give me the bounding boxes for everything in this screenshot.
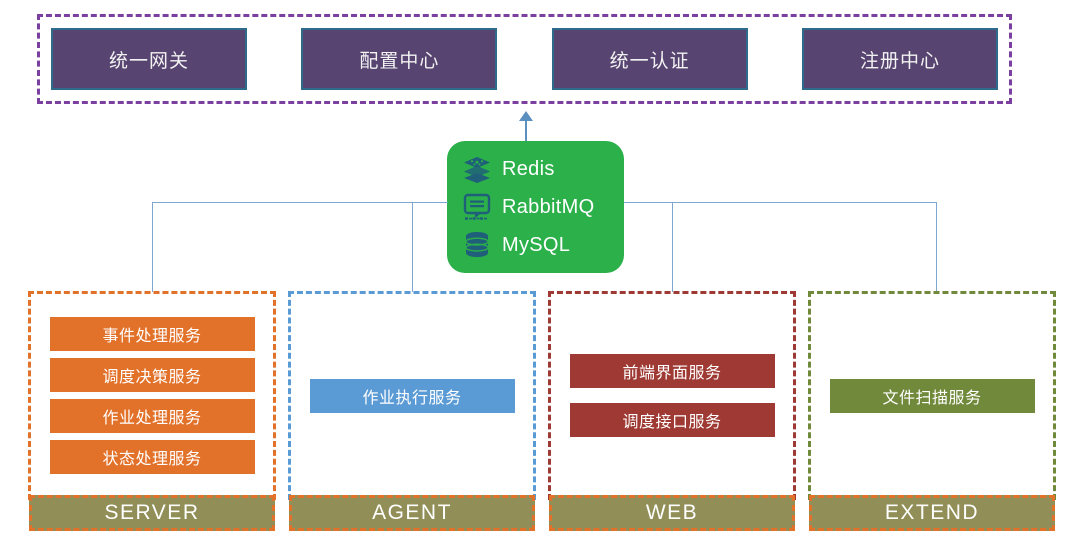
rabbitmq-message-icon: [461, 191, 493, 223]
module-web-services: 前端界面服务 调度接口服务: [551, 294, 793, 497]
service-label: 前端界面服务: [622, 359, 721, 383]
module-agent-services: 作业执行服务: [291, 294, 533, 497]
service-label: 作业执行服务: [362, 384, 461, 408]
module-agent[interactable]: 作业执行服务: [288, 291, 536, 500]
platform-box-registry-label: 注册中心: [860, 46, 940, 73]
module-footer-server: SERVER: [29, 495, 275, 531]
middleware-item-mysql-label: MySQL: [502, 234, 570, 257]
mysql-database-icon: [461, 229, 493, 261]
module-extend[interactable]: 文件扫描服务: [808, 291, 1056, 500]
platform-layer-boxes: 统一网关 配置中心 统一认证 注册中心: [37, 14, 1012, 104]
module-server[interactable]: 事件处理服务 调度决策服务 作业处理服务 状态处理服务: [28, 291, 276, 500]
module-web[interactable]: 前端界面服务 调度接口服务: [548, 291, 796, 500]
platform-box-gateway-label: 统一网关: [109, 46, 189, 73]
platform-box-gateway[interactable]: 统一网关: [51, 28, 247, 90]
middleware-item-mysql: MySQL: [461, 226, 624, 264]
platform-box-registry[interactable]: 注册中心: [802, 28, 998, 90]
middleware-item-rabbitmq-label: RabbitMQ: [502, 196, 594, 219]
platform-box-config-label: 配置中心: [359, 46, 439, 73]
service-box[interactable]: 事件处理服务: [50, 317, 255, 351]
uplink-arrow-stem: [525, 118, 527, 142]
bus-drop-server: [152, 202, 153, 292]
middleware-item-redis-label: Redis: [502, 158, 555, 181]
module-footer-web-label: WEB: [646, 501, 698, 525]
service-label: 文件扫描服务: [882, 384, 981, 408]
redis-layers-icon: [461, 153, 493, 185]
architecture-diagram: 统一网关 配置中心 统一认证 注册中心: [0, 0, 1080, 545]
module-extend-services: 文件扫描服务: [811, 294, 1053, 497]
service-box[interactable]: 作业执行服务: [310, 379, 515, 413]
middleware-item-rabbitmq: RabbitMQ: [461, 188, 624, 226]
service-box[interactable]: 状态处理服务: [50, 440, 255, 474]
module-footer-web: WEB: [549, 495, 795, 531]
bus-drop-extend: [936, 202, 937, 292]
service-label: 调度接口服务: [622, 408, 721, 432]
service-label: 状态处理服务: [102, 445, 201, 469]
service-label: 调度决策服务: [102, 363, 201, 387]
module-server-services: 事件处理服务 调度决策服务 作业处理服务 状态处理服务: [31, 294, 273, 497]
service-box[interactable]: 作业处理服务: [50, 399, 255, 433]
module-footer-extend-label: EXTEND: [885, 501, 979, 525]
middleware-item-redis: Redis: [461, 150, 624, 188]
service-label: 事件处理服务: [102, 322, 201, 346]
platform-box-auth[interactable]: 统一认证: [552, 28, 748, 90]
service-box[interactable]: 文件扫描服务: [830, 379, 1035, 413]
service-box[interactable]: 调度接口服务: [570, 403, 775, 437]
middleware-box[interactable]: Redis RabbitMQ: [447, 141, 624, 273]
platform-box-auth-label: 统一认证: [610, 46, 690, 73]
module-footer-server-label: SERVER: [105, 501, 200, 525]
module-footer-agent-label: AGENT: [372, 501, 452, 525]
service-box[interactable]: 前端界面服务: [570, 354, 775, 388]
module-footer-extend: EXTEND: [809, 495, 1055, 531]
bus-drop-web: [672, 202, 673, 292]
platform-box-config[interactable]: 配置中心: [301, 28, 497, 90]
bus-line-left: [152, 202, 448, 203]
service-label: 作业处理服务: [102, 404, 201, 428]
module-footer-agent: AGENT: [289, 495, 535, 531]
bus-drop-agent: [412, 202, 413, 292]
service-box[interactable]: 调度决策服务: [50, 358, 255, 392]
bus-line-right: [624, 202, 936, 203]
